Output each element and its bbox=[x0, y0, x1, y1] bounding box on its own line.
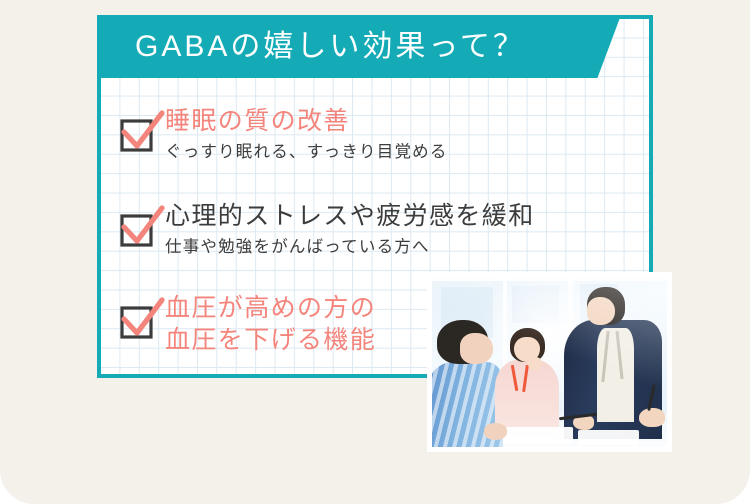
card-header-banner: GABAの嬉しい効果って？ bbox=[97, 15, 621, 78]
list-item-title-line2: 血圧を下げる機能 bbox=[165, 326, 376, 356]
office-meeting-photo bbox=[432, 277, 667, 447]
page-title: GABAの嬉しい効果って？ bbox=[97, 32, 526, 62]
office-photo-frame bbox=[427, 272, 672, 452]
person-left-face bbox=[460, 333, 493, 364]
checkbox-checked-icon bbox=[115, 206, 161, 252]
list-item-text: 血圧が高めの方の 血圧を下げる機能 bbox=[161, 294, 376, 355]
list-item: 睡眠の質の改善 ぐっすり眠れる、すっきり目覚める bbox=[115, 107, 448, 163]
document-on-table bbox=[578, 430, 639, 445]
list-item: 心理的ストレスや疲労感を緩和 仕事や勉強をがんばっている方へ bbox=[115, 202, 535, 258]
document-on-table bbox=[503, 427, 574, 444]
list-item-title: 心理的ストレスや疲労感を緩和 bbox=[165, 202, 535, 232]
list-item: 血圧が高めの方の 血圧を下げる機能 bbox=[115, 294, 376, 355]
list-item-subtitle: 仕事や勉強をがんばっている方へ bbox=[165, 237, 535, 258]
list-item-title-line1: 血圧が高めの方の bbox=[165, 294, 376, 324]
hand bbox=[639, 408, 665, 427]
checkbox-checked-icon bbox=[115, 111, 161, 157]
list-item-title: 睡眠の質の改善 bbox=[165, 107, 448, 137]
list-item-text: 睡眠の質の改善 ぐっすり眠れる、すっきり目覚める bbox=[161, 107, 448, 163]
checkbox-checked-icon bbox=[115, 298, 161, 344]
list-item-text: 心理的ストレスや疲労感を緩和 仕事や勉強をがんばっている方へ bbox=[161, 202, 535, 258]
infographic-page: GABAの嬉しい効果って？ 睡眠の質の改善 ぐっすり眠れる、すっきり目覚める bbox=[0, 0, 750, 504]
list-item-subtitle: ぐっすり眠れる、すっきり目覚める bbox=[165, 142, 448, 163]
person-right-face bbox=[587, 297, 615, 324]
hand bbox=[484, 423, 508, 440]
